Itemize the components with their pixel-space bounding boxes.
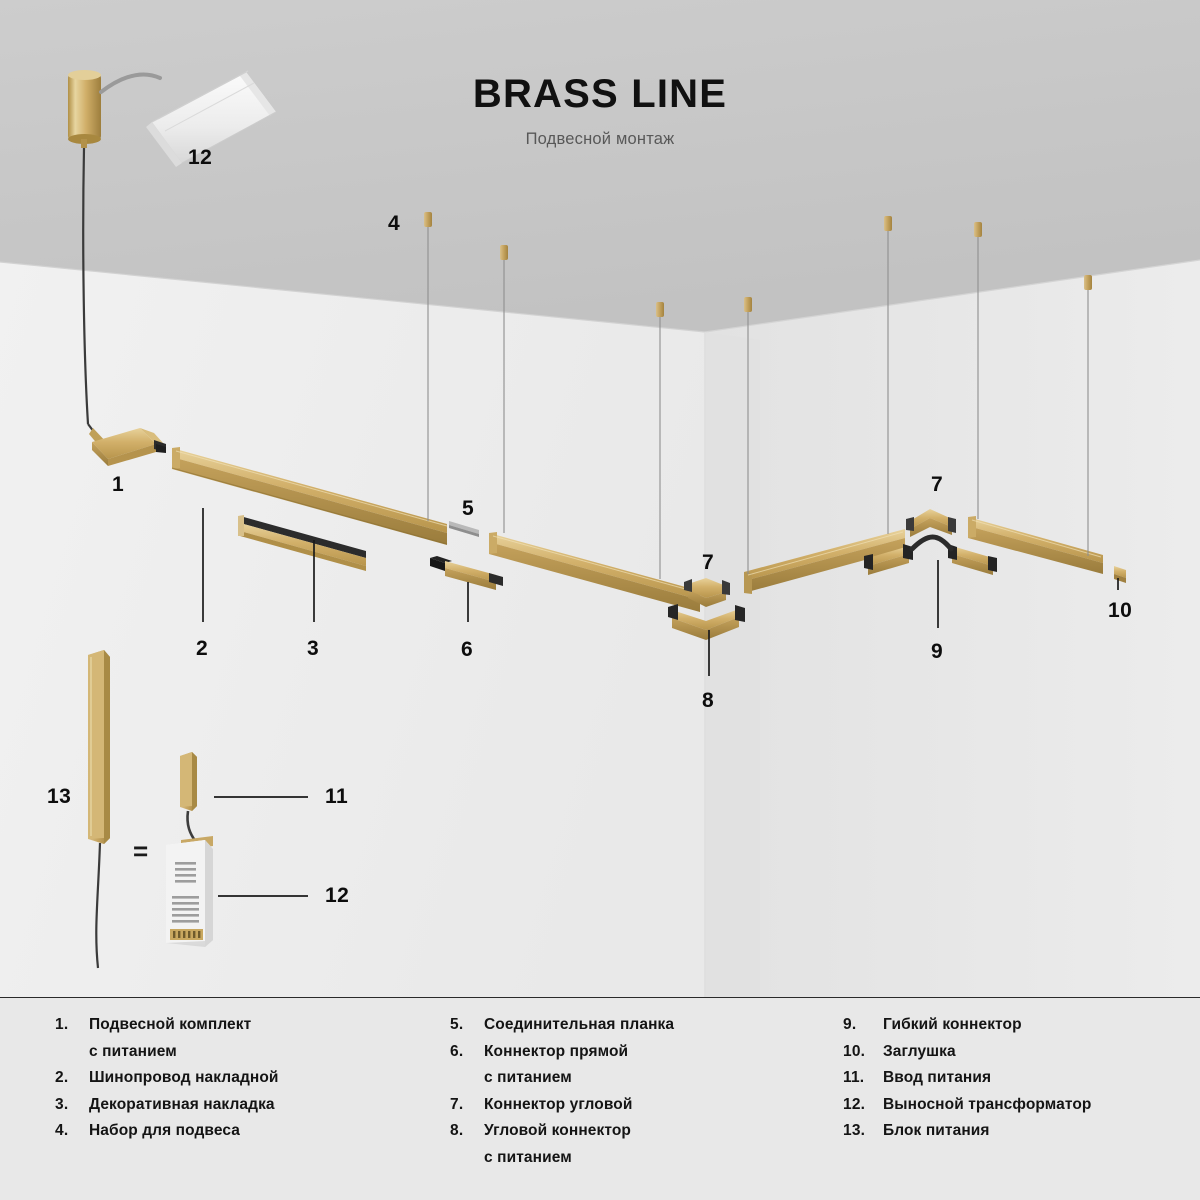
legend-number: 12.	[843, 1092, 883, 1119]
legend-number: 4.	[55, 1118, 89, 1145]
legend-text: Угловой коннектор с питанием	[484, 1118, 631, 1171]
legend-item: 4. Набор для подвеса	[55, 1118, 445, 1145]
legend-column-3: 9. Гибкий коннектор 10. Заглушка 11. Вво…	[843, 1012, 1193, 1145]
legend-number: 11.	[843, 1065, 883, 1092]
wall-left	[0, 262, 705, 997]
callout-12-bottom: 12	[325, 885, 349, 906]
legend-text: Декоративная накладка	[89, 1092, 275, 1119]
wall-right	[705, 260, 1200, 997]
legend-item: 11. Ввод питания	[843, 1065, 1193, 1092]
legend-text: Гибкий коннектор	[883, 1012, 1022, 1039]
product-diagram-page: BRASS LINE Подвесной монтаж = 12 4 1 5 2…	[0, 0, 1200, 1200]
equals-symbol: =	[133, 838, 148, 864]
legend-number: 1.	[55, 1012, 89, 1065]
legend-number: 10.	[843, 1039, 883, 1066]
legend-number: 5.	[450, 1012, 484, 1039]
legend-number: 2.	[55, 1065, 89, 1092]
legend-item: 5. Соединительная планка	[450, 1012, 835, 1039]
callout-7-left: 7	[702, 552, 714, 573]
callout-4: 4	[388, 213, 400, 234]
callout-8: 8	[702, 690, 714, 711]
legend-text: Ввод питания	[883, 1065, 991, 1092]
part-12-transformer-bottom	[166, 836, 213, 947]
legend-item: 2. Шинопровод накладной	[55, 1065, 445, 1092]
legend-text: Подвесной комплект с питанием	[89, 1012, 251, 1065]
callout-5: 5	[462, 498, 474, 519]
legend-text: Соединительная планка	[484, 1012, 674, 1039]
legend-item: 7. Коннектор угловой	[450, 1092, 835, 1119]
callout-10: 10	[1108, 600, 1132, 621]
legend-text: Шинопровод накладной	[89, 1065, 279, 1092]
legend-item: 8. Угловой коннектор с питанием	[450, 1118, 835, 1171]
callout-13: 13	[47, 786, 71, 807]
callout-3: 3	[307, 638, 319, 659]
legend-text: Набор для подвеса	[89, 1118, 240, 1145]
legend-item: 13. Блок питания	[843, 1118, 1193, 1145]
legend-item: 6. Коннектор прямой с питанием	[450, 1039, 835, 1092]
legend-item: 10. Заглушка	[843, 1039, 1193, 1066]
callout-1: 1	[112, 474, 124, 495]
callout-6: 6	[461, 639, 473, 660]
legend-number: 7.	[450, 1092, 484, 1119]
diagram-scene: BRASS LINE Подвесной монтаж = 12 4 1 5 2…	[0, 0, 1200, 997]
legend-panel: 1. Подвесной комплект с питанием 2. Шино…	[0, 997, 1200, 1200]
legend-text: Заглушка	[883, 1039, 956, 1066]
legend-text: Коннектор угловой	[484, 1092, 632, 1119]
scene-illustration	[0, 0, 1200, 997]
legend-text: Блок питания	[883, 1118, 990, 1145]
legend-column-2: 5. Соединительная планка 6. Коннектор пр…	[450, 1012, 835, 1171]
callout-9: 9	[931, 641, 943, 662]
callout-11: 11	[325, 786, 348, 807]
legend-number: 9.	[843, 1012, 883, 1039]
legend-item: 3. Декоративная накладка	[55, 1092, 445, 1119]
legend-text: Выносной трансформатор	[883, 1092, 1092, 1119]
legend-item: 9. Гибкий коннектор	[843, 1012, 1193, 1039]
legend-item: 1. Подвесной комплект с питанием	[55, 1012, 445, 1065]
legend-text: Коннектор прямой с питанием	[484, 1039, 628, 1092]
callout-7-right: 7	[931, 474, 943, 495]
legend-item: 12. Выносной трансформатор	[843, 1092, 1193, 1119]
callout-12-top: 12	[188, 147, 212, 168]
legend-number: 6.	[450, 1039, 484, 1092]
legend-column-1: 1. Подвесной комплект с питанием 2. Шино…	[55, 1012, 445, 1145]
callout-2: 2	[196, 638, 208, 659]
legend-number: 8.	[450, 1118, 484, 1171]
legend-number: 13.	[843, 1118, 883, 1145]
legend-number: 3.	[55, 1092, 89, 1119]
